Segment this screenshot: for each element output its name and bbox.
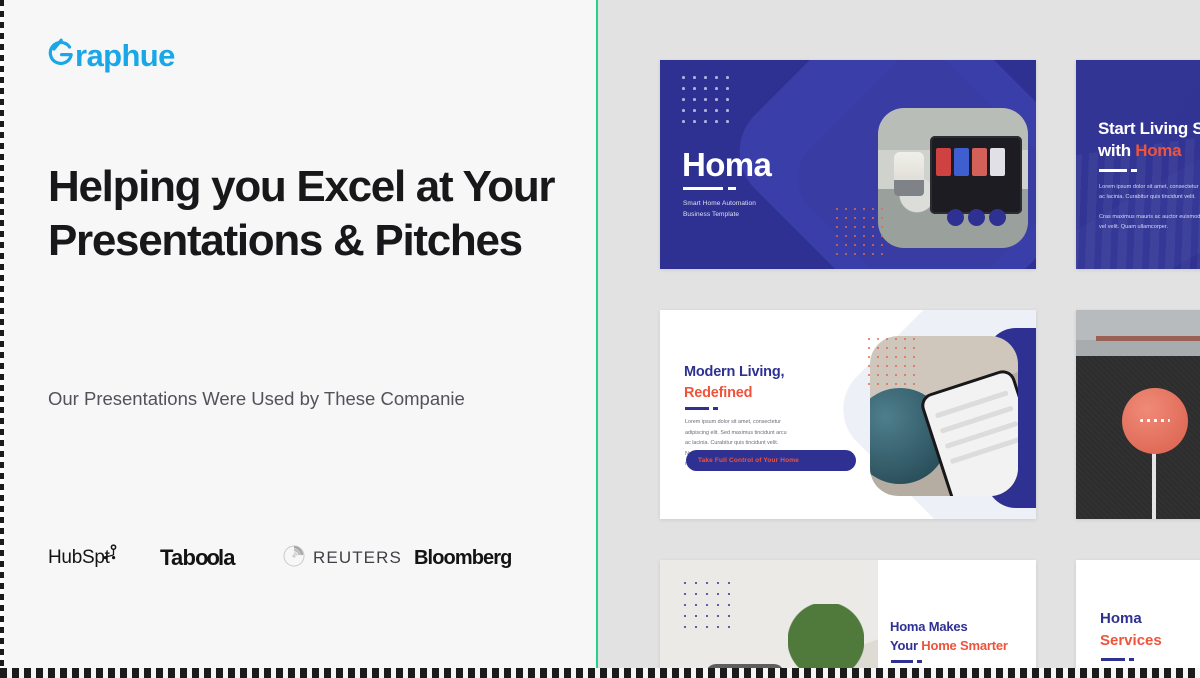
title-underline: [1099, 169, 1137, 172]
slide-title: Modern Living, Redefined: [684, 362, 784, 403]
slide-body-paragraph: Cras maximus mauris ac auctor euismod. D…: [1099, 212, 1200, 233]
dot-grid-pattern: [836, 208, 890, 262]
title-underline: [683, 187, 736, 190]
slide-photo: [1076, 310, 1200, 519]
panel-divider: [596, 0, 598, 668]
slide-previews-panel: Homa Smart Home Automation Business Temp…: [598, 0, 1200, 668]
slide-subtitle-line2: Business Template: [683, 211, 739, 218]
slide-cta-button[interactable]: Take Full Control of Your Home: [686, 450, 856, 471]
page-root: raphue Helping you Excel at Your Present…: [0, 0, 1200, 678]
slide-preview-red-speaker[interactable]: Homa Home Lorem ipsum dolor sit amet, co…: [1076, 310, 1200, 519]
title-underline: [891, 660, 922, 663]
dot-grid-pattern: [684, 582, 739, 637]
dot-grid-pattern: [682, 76, 737, 131]
dot-grid-pattern: [868, 338, 922, 392]
slide-title-highlight: Homa: [1135, 141, 1181, 160]
taboola-eyes-icon: oo: [195, 545, 218, 570]
slide-preview-homa-services[interactable]: Homa Services Lorem ipsum dolor sit amet…: [1076, 560, 1200, 668]
phone-device-icon: [922, 371, 1018, 496]
shelf-edge: [1096, 336, 1200, 341]
plant-decor: [788, 604, 864, 668]
slide-preview-homa-makes-smarter[interactable]: Homa Makes Your Home Smarter Lorem ipsum…: [660, 560, 1036, 668]
viewport-edge-left: [0, 0, 4, 668]
hubspot-sprocket-icon: [102, 544, 118, 568]
slide-title-highlight: Services: [1100, 630, 1162, 652]
client-logo-reuters: REUTERS: [282, 544, 402, 573]
reuters-swirl-icon: [282, 544, 306, 573]
slide-title-highlight: Redefined: [684, 385, 752, 401]
client-logo-taboola: Taboola: [160, 545, 272, 571]
hero-left-panel: raphue Helping you Excel at Your Present…: [0, 0, 597, 668]
viewport-edge-bottom: [0, 668, 1200, 678]
slide-title: Start Living Sm with Homa: [1098, 118, 1200, 163]
taboola-wordmark-tail: la: [218, 545, 235, 570]
hero-subheading: Our Presentations Were Used by These Com…: [48, 378, 478, 420]
hubspot-wordmark: HubSp: [48, 547, 105, 568]
slide-title-line1: Start Living Sm: [1098, 119, 1200, 138]
taboola-wordmark: Tab: [160, 545, 195, 570]
slide-title: Homa Services: [1100, 608, 1162, 652]
slide-title-line2-prefix: with: [1098, 141, 1135, 160]
client-logo-bloomberg: Bloomberg: [414, 547, 511, 570]
slide-body-text: Lorem ipsum dolor sit amet, consectetur …: [1099, 182, 1200, 241]
tablet-device-icon: [930, 136, 1022, 214]
slide-title-line1: Modern Living,: [684, 364, 784, 380]
slide-title: Homa Makes Your Home Smarter: [890, 618, 1008, 656]
slide-photo: [878, 108, 1028, 248]
slide-preview-start-living-smart[interactable]: Start Living Sm with Homa Lorem ipsum do…: [1076, 60, 1200, 269]
page-title: Helping you Excel at Your Presentations …: [48, 160, 568, 268]
droplet-g-icon: [48, 38, 74, 73]
reuters-wordmark: REUTERS: [313, 548, 402, 568]
power-cord: [1152, 452, 1156, 519]
brand-logo[interactable]: raphue: [48, 38, 175, 73]
slide-title-line2-prefix: Your: [890, 638, 921, 653]
slide-title: Homa: [682, 148, 771, 181]
smart-speaker-icon: [894, 152, 924, 196]
slide-preview-homa-cover[interactable]: Homa Smart Home Automation Business Temp…: [660, 60, 1036, 269]
slide-preview-modern-living[interactable]: Modern Living, Redefined Lorem ipsum dol…: [660, 310, 1036, 519]
slide-subtitle: Smart Home Automation Business Template: [683, 198, 756, 220]
avatar-bubbles: [947, 209, 1006, 226]
title-underline: [685, 407, 718, 410]
title-underline: [1101, 658, 1134, 661]
client-logos-row: HubSpt Taboola: [48, 538, 548, 578]
slide-title-line1: Homa: [1100, 610, 1142, 627]
smart-speaker-icon: [1122, 388, 1188, 454]
slide-body-paragraph: Lorem ipsum dolor sit amet, consectetur …: [1099, 182, 1200, 203]
slide-subtitle-line1: Smart Home Automation: [683, 200, 756, 207]
slide-title-line1: Homa Makes: [890, 619, 967, 634]
brand-logo-text: raphue: [75, 40, 175, 71]
slide-title-highlight: Home Smarter: [921, 638, 1007, 653]
client-logo-hubspot: HubSpt: [48, 547, 138, 569]
